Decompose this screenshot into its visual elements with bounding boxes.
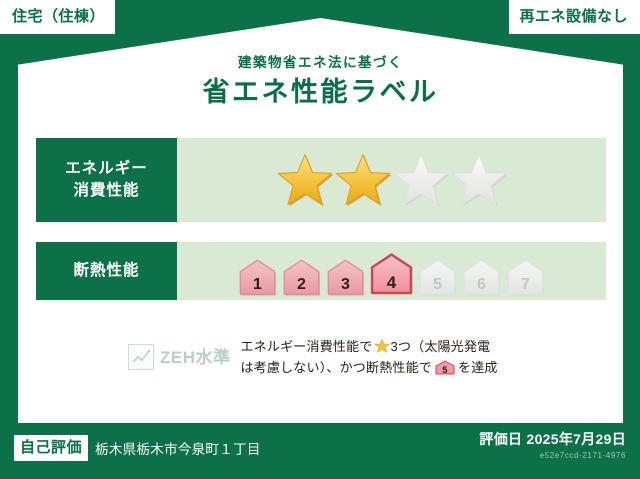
house-level-4: 4 — [369, 251, 414, 296]
zeh-line2-house-level: 5 — [435, 366, 455, 375]
star-icon — [374, 338, 390, 354]
label-footer: 自己評価 栃木県栃木市今泉町１丁目 評価日 2025年7月29日 e52e7cc… — [0, 423, 640, 479]
star-icon-empty — [450, 152, 508, 208]
house-level-6: 6 — [461, 258, 502, 296]
zeh-description: エネルギー消費性能で3つ（太陽光発電 は考慮しない）、かつ断熱性能で5を達成 — [241, 336, 498, 379]
energy-performance-label: 住宅（住棟） 再エネ設備なし 建築物省エネ法に基づく 省エネ性能ラベル エネルギ… — [0, 0, 640, 479]
house-icon-inline: 5 — [435, 360, 455, 375]
self-evaluation-badge: 自己評価 — [14, 435, 88, 461]
energy-label-line2: 消費性能 — [73, 180, 139, 202]
house-level-number: 6 — [461, 277, 502, 293]
zeh-note: ZEH水準 エネルギー消費性能で3つ（太陽光発電 は考慮しない）、かつ断熱性能で… — [128, 336, 558, 379]
label-panel-content: 建築物省エネ法に基づく 省エネ性能ラベル エネルギー 消費性能 断熱性能 123… — [18, 18, 623, 423]
energy-performance-label-box: エネルギー 消費性能 — [36, 138, 177, 222]
evaluation-date: 評価日 2025年7月29日 — [479, 431, 626, 448]
page-title: 建築物省エネ法に基づく 省エネ性能ラベル — [18, 56, 623, 106]
energy-label-line1: エネルギー — [65, 158, 148, 180]
title-main: 省エネ性能ラベル — [18, 79, 623, 106]
insulation-rating-value: 1234567 — [177, 242, 606, 300]
insulation-performance-label-box: 断熱性能 — [36, 242, 177, 300]
house-scale: 1234567 — [237, 242, 546, 300]
footer-left-group: 自己評価 栃木県栃木市今泉町１丁目 — [14, 435, 261, 461]
star-icon-filled — [334, 152, 392, 208]
star-rating — [276, 152, 508, 208]
house-level-number: 3 — [325, 277, 366, 293]
zeh-description-line2: は考慮しない）、かつ断熱性能で5を達成 — [241, 357, 498, 378]
zeh-badge: ZEH水準 — [128, 344, 231, 370]
renewable-equipment-badge: 再エネ設備なし — [509, 0, 640, 34]
insulation-performance-row: 断熱性能 1234567 — [36, 242, 606, 300]
insulation-label-line1: 断熱性能 — [73, 260, 139, 282]
house-level-5: 5 — [417, 258, 458, 296]
house-level-1: 1 — [237, 258, 278, 296]
title-subtitle: 建築物省エネ法に基づく — [18, 56, 623, 70]
house-level-3: 3 — [325, 258, 366, 296]
star-icon-empty — [392, 152, 450, 208]
evaluation-id: e52e7ccd-2171-4976 — [479, 451, 626, 460]
star-icon-filled — [276, 152, 334, 208]
zeh-line1-pre: エネルギー消費性能で — [241, 339, 373, 354]
house-level-number: 2 — [281, 277, 322, 293]
energy-rating-value — [177, 138, 606, 222]
zeh-line2-post: を達成 — [458, 360, 498, 375]
house-level-7: 7 — [505, 258, 546, 296]
house-level-2: 2 — [281, 258, 322, 296]
property-address: 栃木県栃木市今泉町１丁目 — [95, 438, 261, 458]
zeh-description-line1: エネルギー消費性能で3つ（太陽光発電 — [241, 336, 498, 357]
building-type-badge: 住宅（住棟） — [0, 0, 115, 34]
zeh-line1-post: 3つ（太陽光発電 — [391, 339, 491, 354]
zeh-line2-pre: は考慮しない）、かつ断熱性能で — [241, 360, 433, 375]
zeh-badge-label: ZEH水準 — [160, 349, 231, 366]
zeh-chart-icon — [128, 344, 154, 370]
house-level-number: 7 — [505, 277, 546, 293]
house-level-number: 5 — [417, 277, 458, 293]
energy-performance-row: エネルギー 消費性能 — [36, 138, 606, 222]
footer-right-group: 評価日 2025年7月29日 e52e7ccd-2171-4976 — [479, 431, 626, 460]
house-level-number: 4 — [369, 274, 414, 291]
house-level-number: 1 — [237, 277, 278, 293]
